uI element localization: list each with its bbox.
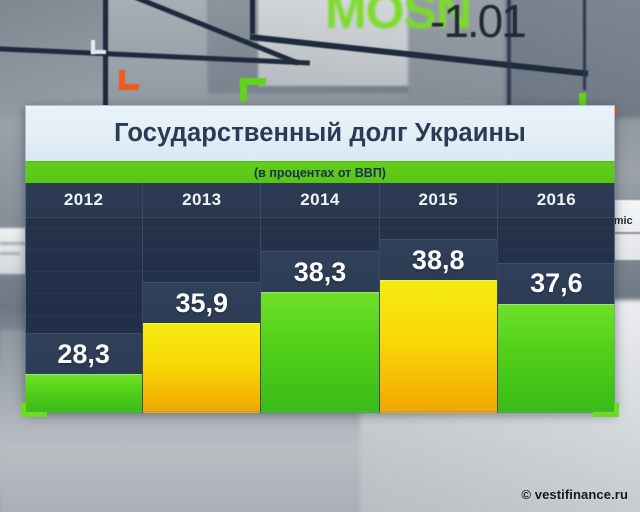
year-header: 2016 [498, 183, 615, 218]
year-label: 2015 [419, 190, 458, 210]
bar-2013[interactable] [143, 323, 260, 413]
value-label-band: 28,3 [25, 333, 142, 374]
column-body: 38,3 [261, 218, 378, 413]
bar-value-label: 37,6 [530, 268, 583, 299]
year-label: 2013 [182, 190, 221, 210]
chart-subtitle: (в процентах от ВВП) [254, 166, 386, 180]
chart-column-2016[interactable]: 2016 37,6 [498, 183, 615, 413]
chart-title-band: Государственный долг Украины [25, 105, 615, 161]
chart-column-2013[interactable]: 2013 35,9 [143, 183, 261, 413]
watermark: © vestifinance.ru [521, 487, 628, 502]
column-body: 35,9 [143, 218, 260, 413]
column-body: 38,8 [380, 218, 497, 413]
bar-value-label: 35,9 [176, 288, 229, 319]
chart-plot-area: 2012 28,3 2013 35,9 20 [25, 183, 615, 413]
green-tracker-marker-icon [240, 78, 266, 85]
value-label-band: 37,6 [498, 263, 615, 304]
column-body: 28,3 [25, 218, 142, 413]
chart-column-2012[interactable]: 2012 28,3 [25, 183, 143, 413]
year-header: 2014 [261, 183, 378, 218]
year-header: 2012 [25, 183, 142, 218]
orange-tracker-marker-icon [119, 84, 139, 90]
year-label: 2014 [300, 190, 339, 210]
year-label: 2016 [537, 190, 576, 210]
studio-panel-a [0, 0, 110, 120]
page-title: Государственный долг Украины [114, 119, 526, 148]
bar-value-label: 38,8 [412, 245, 465, 276]
chart-column-2014[interactable]: 2014 38,3 [261, 183, 379, 413]
value-label-band: 38,8 [380, 239, 497, 280]
value-label-band: 38,3 [261, 251, 378, 292]
chart-column-2015[interactable]: 2015 38,8 [380, 183, 498, 413]
column-body: 37,6 [498, 218, 615, 413]
structural-beam [250, 0, 255, 34]
structural-beam [583, 0, 586, 90]
chart-panel: Государственный долг Украины (в процента… [25, 105, 615, 412]
bar-2016[interactable] [498, 304, 615, 413]
bar-2014[interactable] [261, 292, 378, 413]
bar-value-label: 38,3 [294, 257, 347, 288]
value-label-band: 35,9 [143, 282, 260, 323]
year-header: 2013 [143, 183, 260, 218]
bar-2012[interactable] [25, 374, 142, 413]
background-ticker-change: -1.01 [430, 0, 525, 48]
white-tracker-marker-icon [91, 50, 106, 54]
year-label: 2012 [64, 190, 103, 210]
bar-2015[interactable] [380, 280, 497, 413]
year-header: 2015 [380, 183, 497, 218]
chart-subtitle-band: (в процентах от ВВП) [25, 161, 615, 183]
bar-value-label: 28,3 [57, 339, 110, 370]
studio-panel-f [505, 0, 640, 118]
